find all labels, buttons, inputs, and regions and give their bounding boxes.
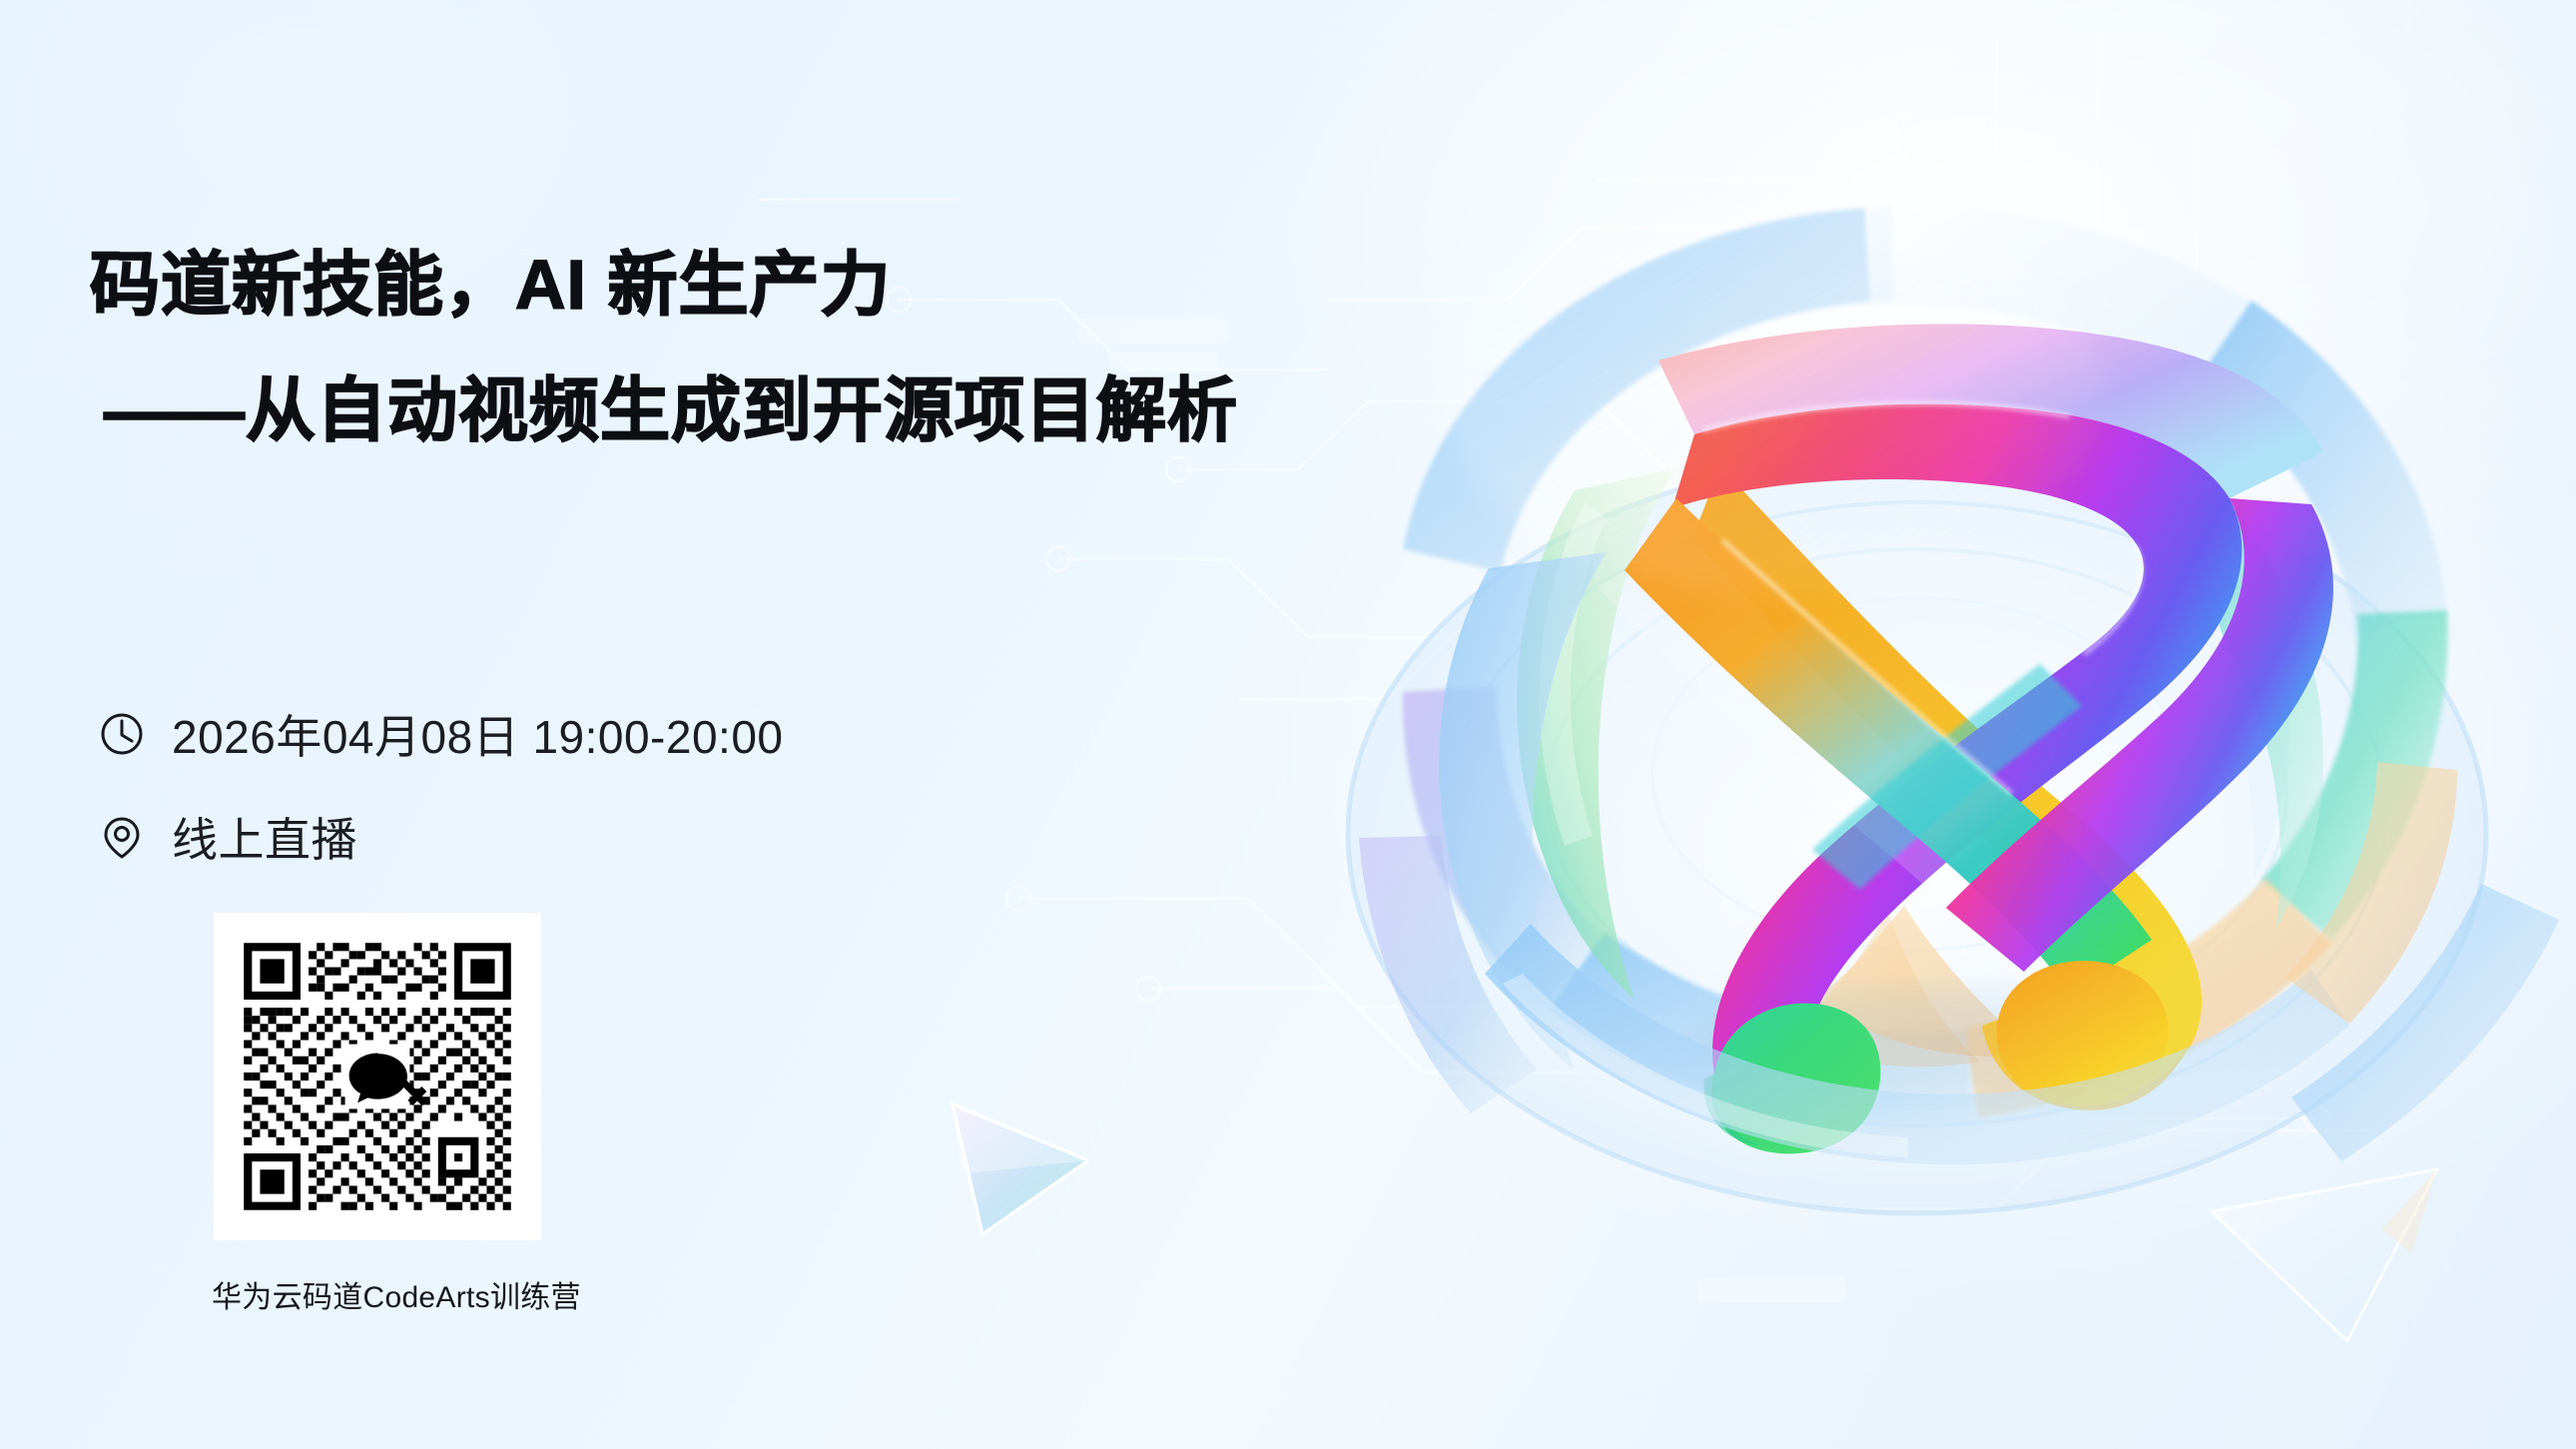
page-title-line-2: ——从自动视频生成到开源项目解析 xyxy=(104,375,1508,445)
floating-prism-shard xyxy=(939,1087,1138,1276)
glass-shards xyxy=(2212,1169,2437,1341)
page-title-line-1: 码道新技能，AI 新生产力 xyxy=(90,250,1508,320)
event-date-text: 2026年04月08日 19:00-20:00 xyxy=(172,701,784,767)
qr-block: 华为云码道CodeArts训练营 xyxy=(228,927,541,1316)
promo-banner: 码道新技能，AI 新生产力 ——从自动视频生成到开源项目解析 2026年04月0… xyxy=(0,0,2576,1449)
event-date-row: 2026年04月08日 19:00-20:00 xyxy=(98,701,784,767)
text-column: 码道新技能，AI 新生产力 ——从自动视频生成到开源项目解析 2026年04月0… xyxy=(90,250,1508,445)
location-pin-icon xyxy=(98,813,146,861)
qr-code[interactable] xyxy=(228,927,527,1226)
event-location-row: 线上直播 xyxy=(98,804,357,870)
clock-icon xyxy=(98,710,146,758)
qr-caption: 华为云码道CodeArts训练营 xyxy=(212,1272,541,1316)
event-location-text: 线上直播 xyxy=(172,804,357,870)
